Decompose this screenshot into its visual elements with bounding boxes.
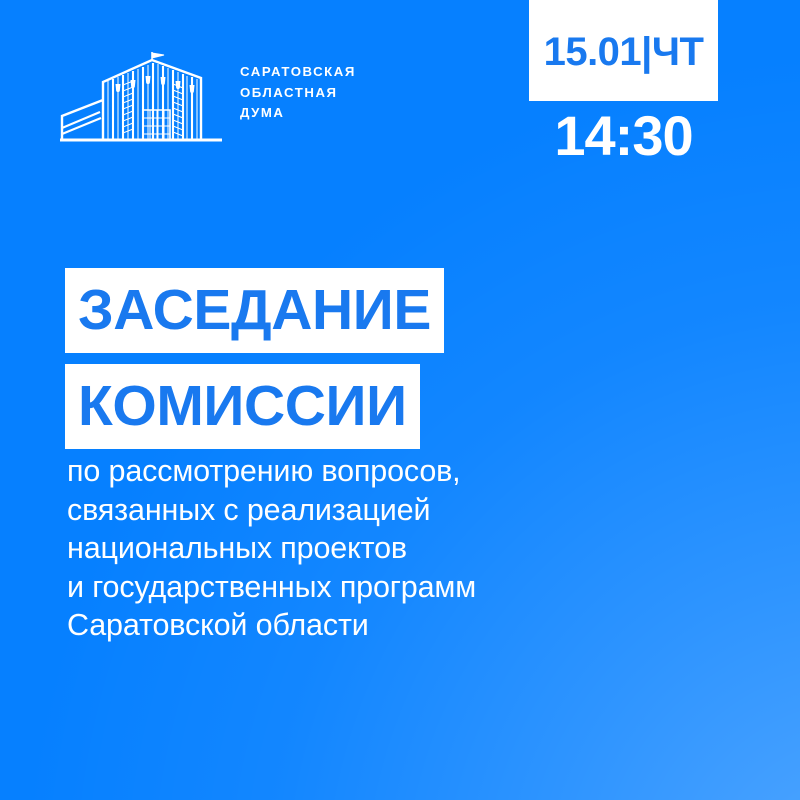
date-badge-text: 15.01|ЧТ bbox=[544, 32, 704, 72]
subtitle-line-3: национальных проектов bbox=[67, 529, 687, 568]
subtitle-line-5: Саратовской области bbox=[67, 606, 687, 645]
saratov-duma-building-icon bbox=[60, 52, 222, 144]
logo-text-line-2: ОБЛАСТНАЯ bbox=[240, 83, 410, 104]
event-description: по рассмотрению вопросов, связанных с ре… bbox=[67, 452, 687, 645]
page-title: ЗАСЕДАНИЕ КОМИССИИ bbox=[65, 268, 444, 449]
event-time: 14:30 bbox=[529, 108, 718, 164]
subtitle-line-2: связанных с реализацией bbox=[67, 491, 687, 530]
headline-row-2: КОМИССИИ bbox=[65, 364, 444, 449]
headline-line-1: ЗАСЕДАНИЕ bbox=[65, 268, 444, 353]
logo-text-line-1: САРАТОВСКАЯ bbox=[240, 62, 410, 83]
announcement-poster: САРАТОВСКАЯ ОБЛАСТНАЯ ДУМА 15.01|ЧТ 14:3… bbox=[0, 0, 800, 800]
logo-text-line-3: ДУМА bbox=[240, 103, 410, 124]
headline-line-2: КОМИССИИ bbox=[65, 364, 420, 449]
date-badge: 15.01|ЧТ bbox=[529, 0, 718, 101]
subtitle-line-1: по рассмотрению вопросов, bbox=[67, 452, 687, 491]
organization-logo: САРАТОВСКАЯ ОБЛАСТНАЯ ДУМА bbox=[60, 50, 400, 145]
subtitle-line-4: и государственных программ bbox=[67, 568, 687, 607]
organization-name: САРАТОВСКАЯ ОБЛАСТНАЯ ДУМА bbox=[240, 62, 410, 124]
headline-row-1: ЗАСЕДАНИЕ bbox=[65, 268, 444, 353]
